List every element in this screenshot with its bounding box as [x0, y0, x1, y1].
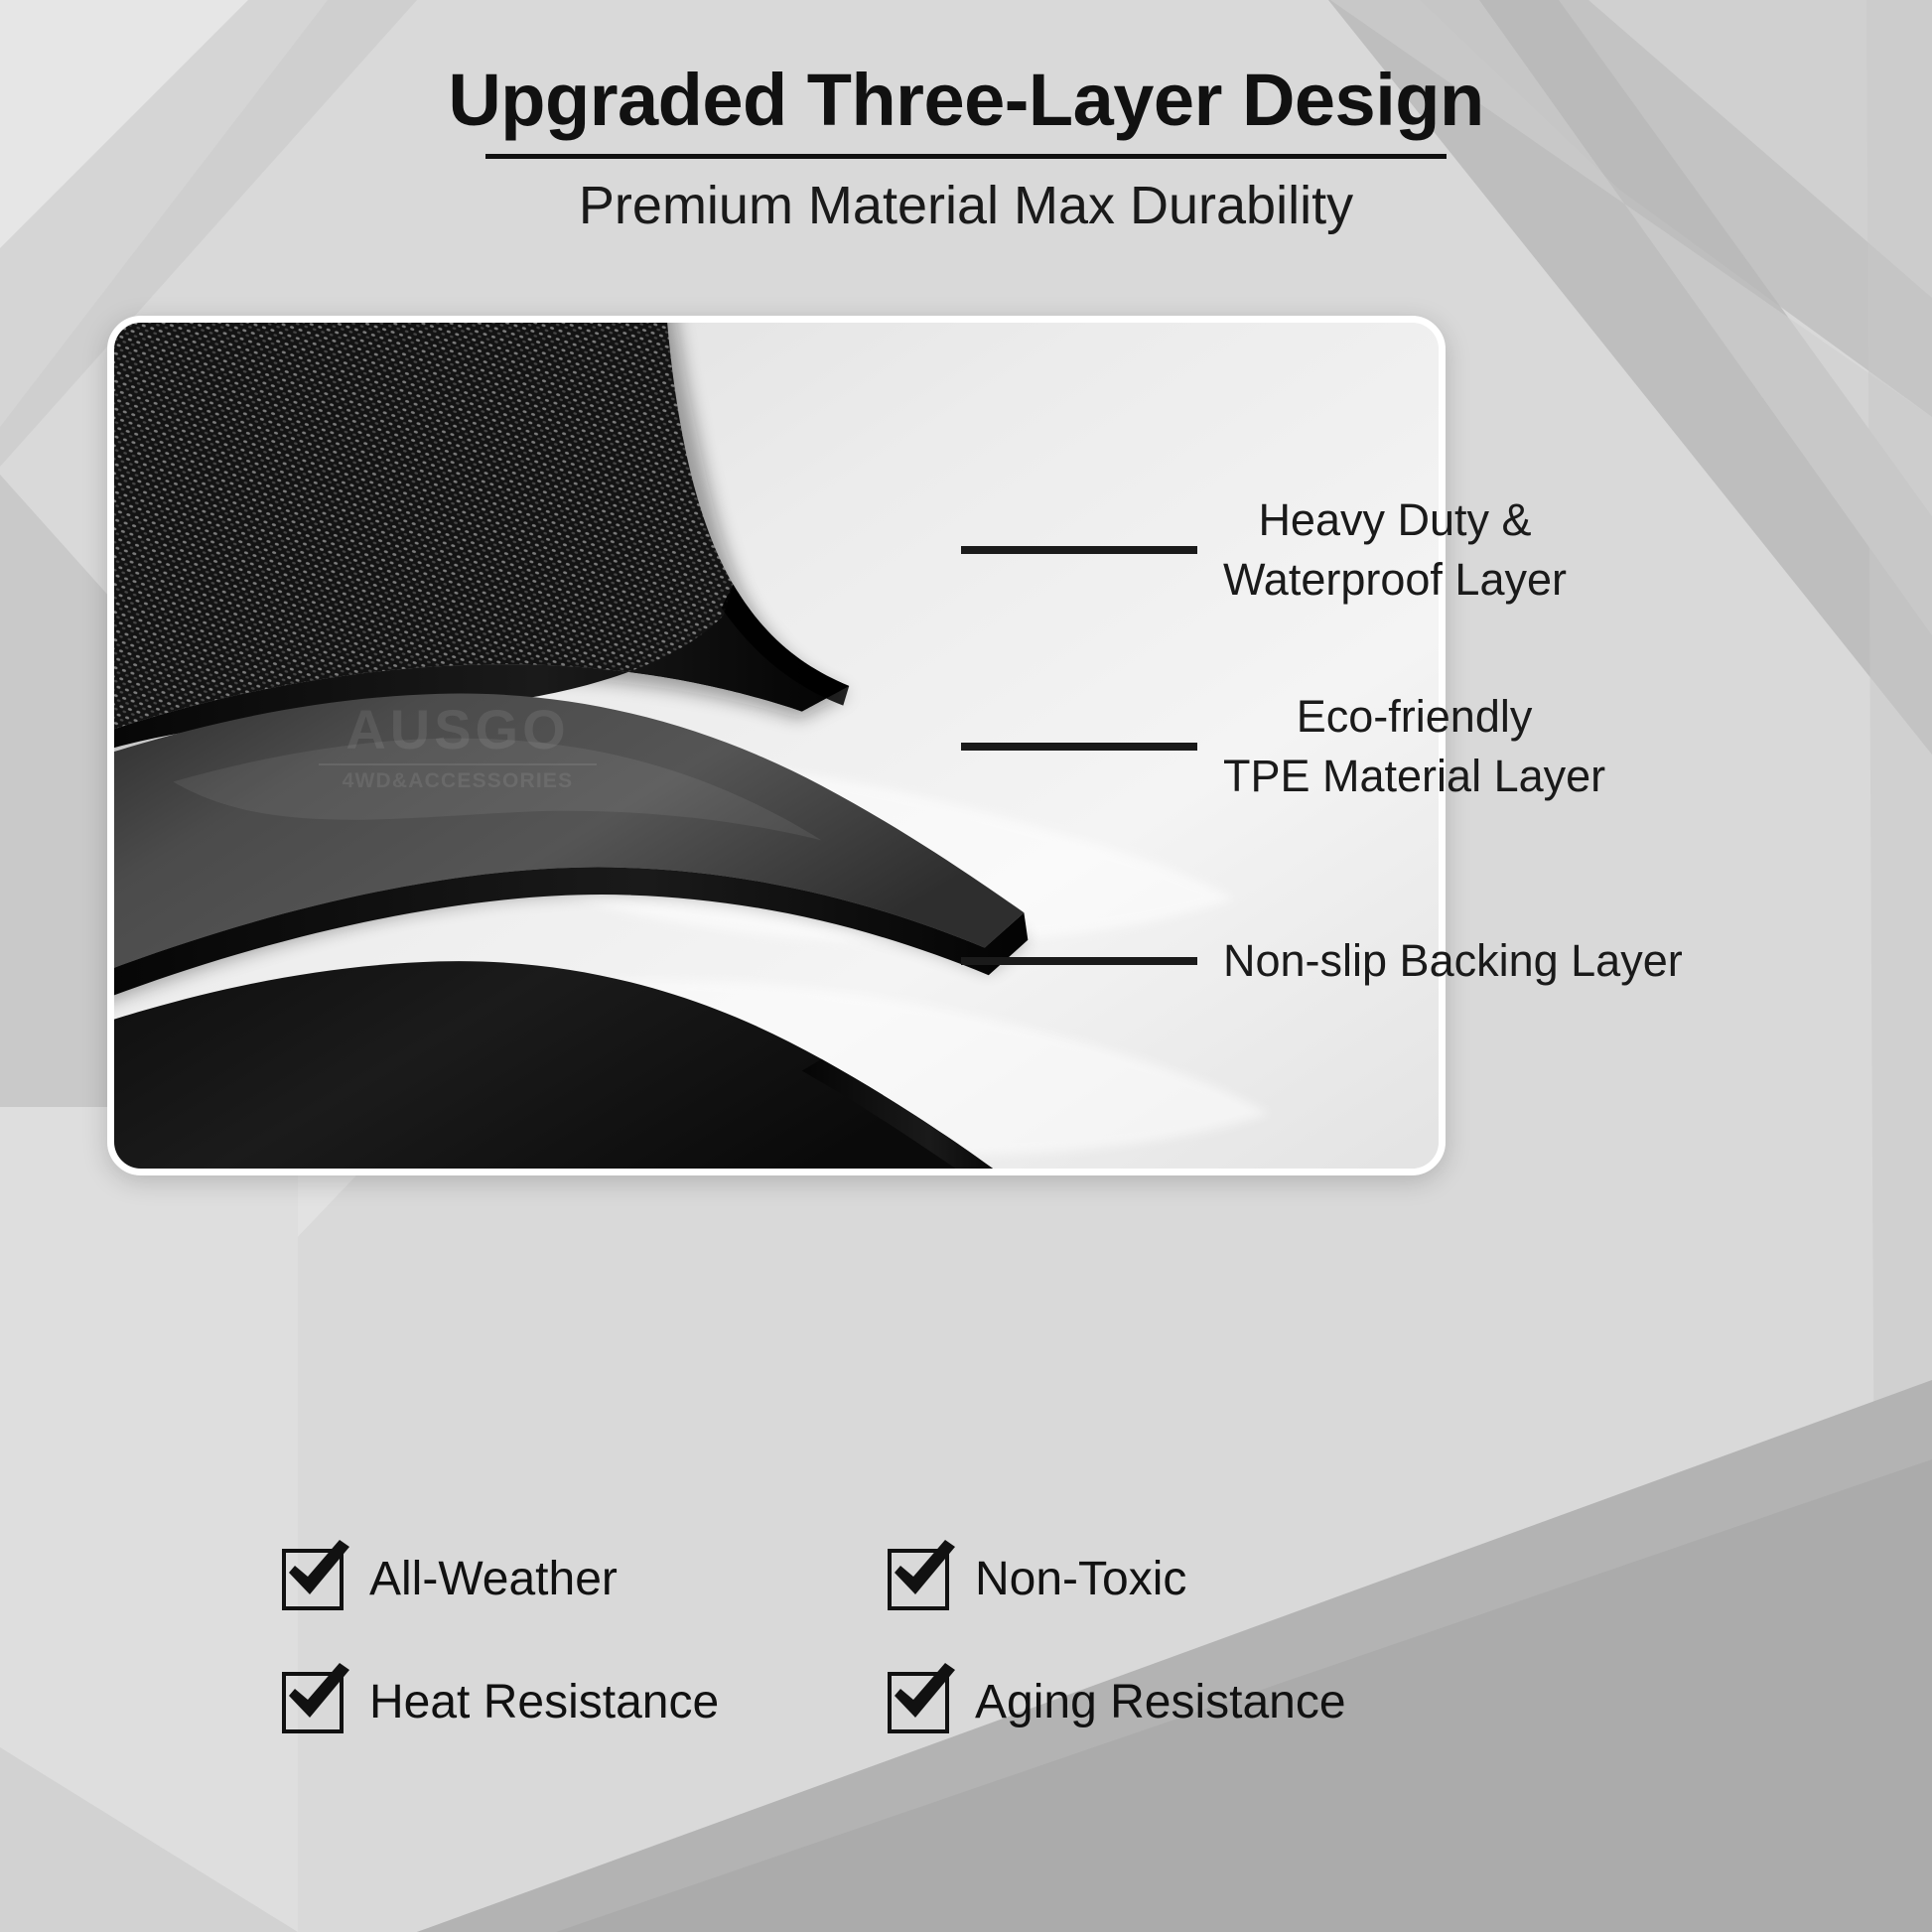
- feature-aging-resistance: Aging Resistance: [888, 1672, 1493, 1733]
- checkbox-checked-icon: [282, 1672, 344, 1733]
- callout-non-slip-backing: Non-slip Backing Layer: [961, 931, 1683, 991]
- leader-line-icon: [961, 743, 1197, 751]
- callout-heavy-duty-waterproof: Heavy Duty & Waterproof Layer: [961, 490, 1567, 610]
- feature-label: Aging Resistance: [975, 1679, 1346, 1726]
- callout-label: Eco-friendly TPE Material Layer: [1223, 687, 1605, 806]
- leader-line-icon: [961, 957, 1197, 965]
- feature-heat-resistance: Heat Resistance: [282, 1672, 888, 1733]
- feature-all-weather: All-Weather: [282, 1549, 888, 1610]
- callout-line-2: Waterproof Layer: [1223, 550, 1567, 610]
- leader-line-icon: [961, 546, 1197, 554]
- checkmark-icon: [278, 1533, 357, 1612]
- header: Upgraded Three-Layer Design Premium Mate…: [0, 60, 1932, 236]
- feature-label: Heat Resistance: [369, 1679, 719, 1726]
- checkbox-checked-icon: [888, 1672, 949, 1733]
- checkmark-icon: [278, 1656, 357, 1735]
- feature-row: Heat Resistance Aging Resistance: [282, 1672, 1672, 1733]
- callout-line-1: Non-slip Backing Layer: [1223, 935, 1683, 986]
- callout-label: Non-slip Backing Layer: [1223, 931, 1683, 991]
- feature-label: All-Weather: [369, 1556, 618, 1603]
- callout-label: Heavy Duty & Waterproof Layer: [1223, 490, 1567, 610]
- page-subtitle: Premium Material Max Durability: [0, 175, 1932, 236]
- checkbox-checked-icon: [888, 1549, 949, 1610]
- callout-line-2: TPE Material Layer: [1223, 747, 1605, 806]
- infographic-page: Upgraded Three-Layer Design Premium Mate…: [0, 0, 1932, 1932]
- callout-eco-friendly-tpe: Eco-friendly TPE Material Layer: [961, 687, 1605, 806]
- feature-non-toxic: Non-Toxic: [888, 1549, 1493, 1610]
- checkmark-icon: [884, 1533, 963, 1612]
- feature-label: Non-Toxic: [975, 1556, 1186, 1603]
- title-divider: [485, 154, 1447, 159]
- page-title: Upgraded Three-Layer Design: [0, 60, 1932, 154]
- checkbox-checked-icon: [282, 1549, 344, 1610]
- callout-line-1: Heavy Duty &: [1258, 494, 1531, 545]
- checkmark-icon: [884, 1656, 963, 1735]
- feature-checklist: All-Weather Non-Toxic: [282, 1549, 1672, 1795]
- callout-line-1: Eco-friendly: [1297, 691, 1533, 742]
- feature-row: All-Weather Non-Toxic: [282, 1549, 1672, 1610]
